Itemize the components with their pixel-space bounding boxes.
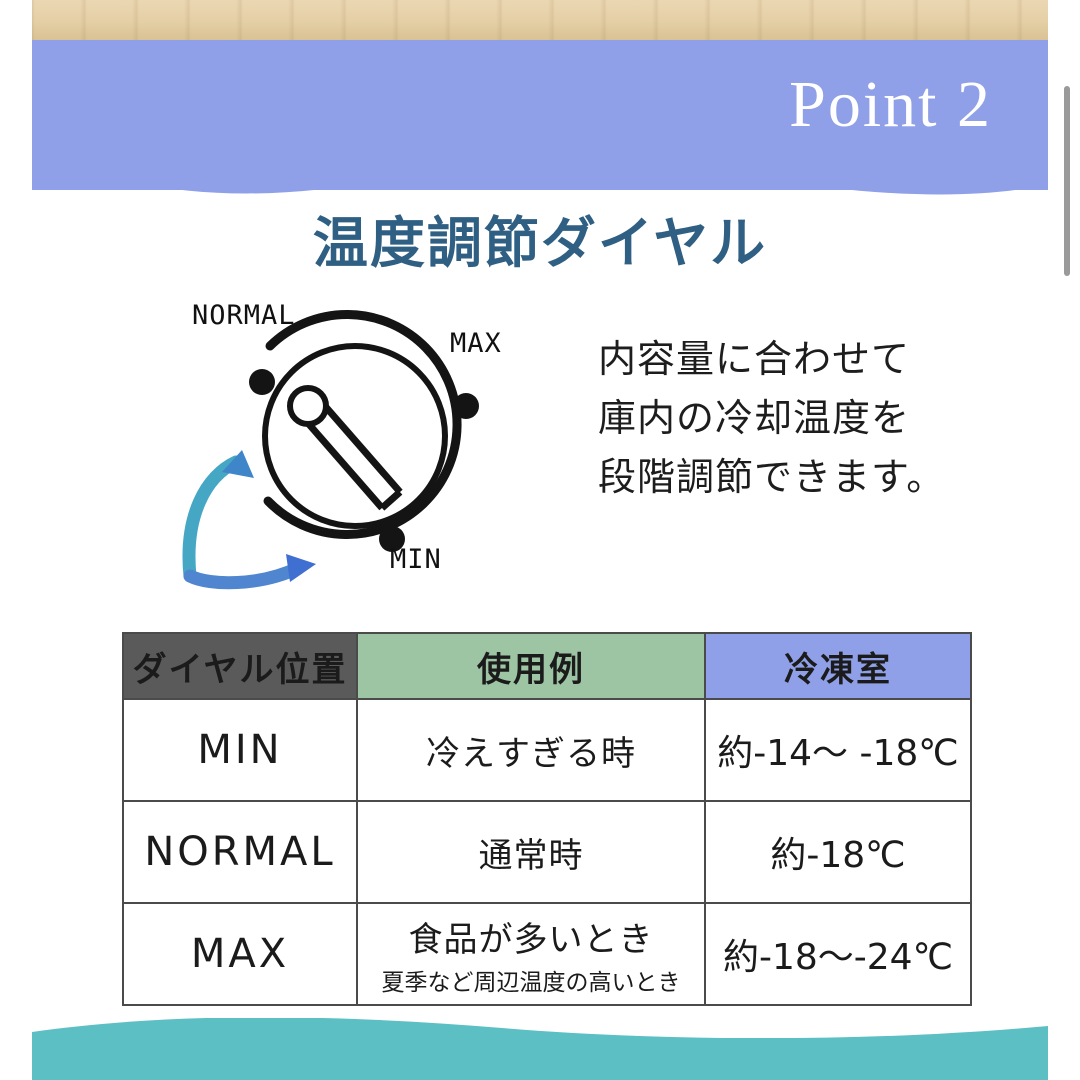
cell-dial-max: MAX [123,903,357,1005]
description-line-2: 庫内の冷却温度を [598,389,998,448]
table-row: MIN 冷えすぎる時 約-14〜 -18℃ [123,699,971,801]
dial-label-max: MAX [450,328,502,359]
dial-label-min: MIN [390,544,442,575]
wood-texture-strip [32,0,1048,40]
table-row: NORMAL 通常時 約-18℃ [123,801,971,903]
dial-dot-normal [249,369,275,395]
point-label: Point 2 [789,72,992,138]
description-line-3: 段階調節できます。 [598,448,998,507]
page-root: Point 2 温度調節ダイヤル NORMAL MAX [0,0,1080,1080]
cell-dial-normal: NORMAL [123,801,357,903]
dial-label-normal: NORMAL [192,300,296,331]
cell-freezer-normal: 約-18℃ [705,801,971,903]
wood-texture-grain [32,0,1048,40]
cell-use-max-sub: 夏季など周辺温度の高いとき [359,963,703,997]
temperature-table: ダイヤル位置 使用例 冷凍室 MIN 冷えすぎる時 約-14〜 -18℃ NOR… [122,632,972,1006]
description-text: 内容量に合わせて 庫内の冷却温度を 段階調節できます。 [598,330,998,507]
cell-dial-min: MIN [123,699,357,801]
bottom-band [32,1038,1048,1080]
dial-dot-max [453,393,479,419]
table-head: ダイヤル位置 使用例 冷凍室 [123,633,971,699]
table-header-freezer: 冷凍室 [705,633,971,699]
cell-use-normal: 通常時 [357,801,705,903]
table-header-usage-example: 使用例 [357,633,705,699]
dial-graphic [150,286,570,606]
cell-freezer-min: 約-14〜 -18℃ [705,699,971,801]
dial-illustration: NORMAL MAX MIN [150,286,570,606]
table-header-row: ダイヤル位置 使用例 冷凍室 [123,633,971,699]
cell-freezer-max: 約-18〜-24℃ [705,903,971,1005]
page-margin-left [0,0,32,1080]
scrollbar-thumb[interactable] [1064,86,1070,276]
cell-use-min: 冷えすぎる時 [357,699,705,801]
table-body: MIN 冷えすぎる時 約-14〜 -18℃ NORMAL 通常時 約-18℃ M… [123,699,971,1005]
table-row: MAX 食品が多いとき 夏季など周辺温度の高いとき 約-18〜-24℃ [123,903,971,1005]
description-line-1: 内容量に合わせて [598,330,998,389]
table-header-dial-position: ダイヤル位置 [123,633,357,699]
page-title: 温度調節ダイヤル [0,198,1080,278]
cell-use-max: 食品が多いとき 夏季など周辺温度の高いとき [357,903,705,1005]
cell-use-max-main: 食品が多いとき [409,920,654,960]
